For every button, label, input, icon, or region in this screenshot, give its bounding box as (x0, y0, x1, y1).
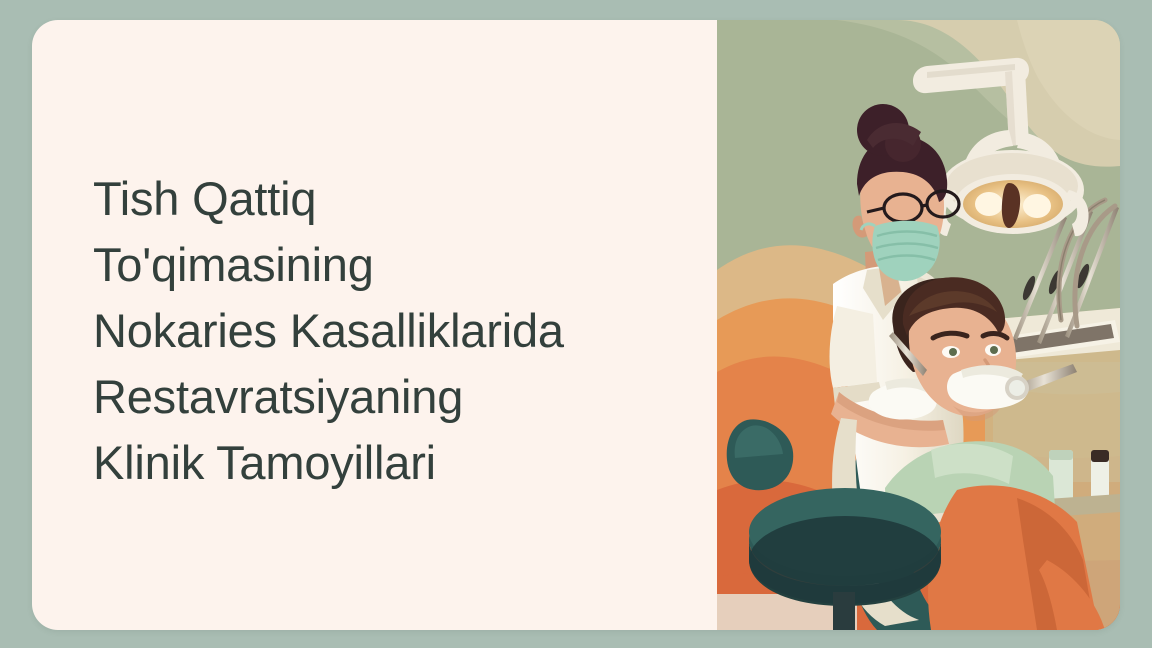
title-line-5: Klinik Tamoyillari (93, 430, 693, 496)
title-line-4: Restavratsiyaning (93, 364, 693, 430)
title-line-2: To'qimasining (93, 232, 693, 298)
slide-root: Tish Qattiq To'qimasining Nokaries Kasal… (0, 0, 1152, 648)
slide-card: Tish Qattiq To'qimasining Nokaries Kasal… (32, 20, 1120, 630)
slide-title: Tish Qattiq To'qimasining Nokaries Kasal… (93, 166, 693, 496)
title-line-1: Tish Qattiq (93, 166, 693, 232)
title-line-3: Nokaries Kasalliklarida (93, 298, 693, 364)
dental-clinic-illustration (717, 20, 1120, 630)
